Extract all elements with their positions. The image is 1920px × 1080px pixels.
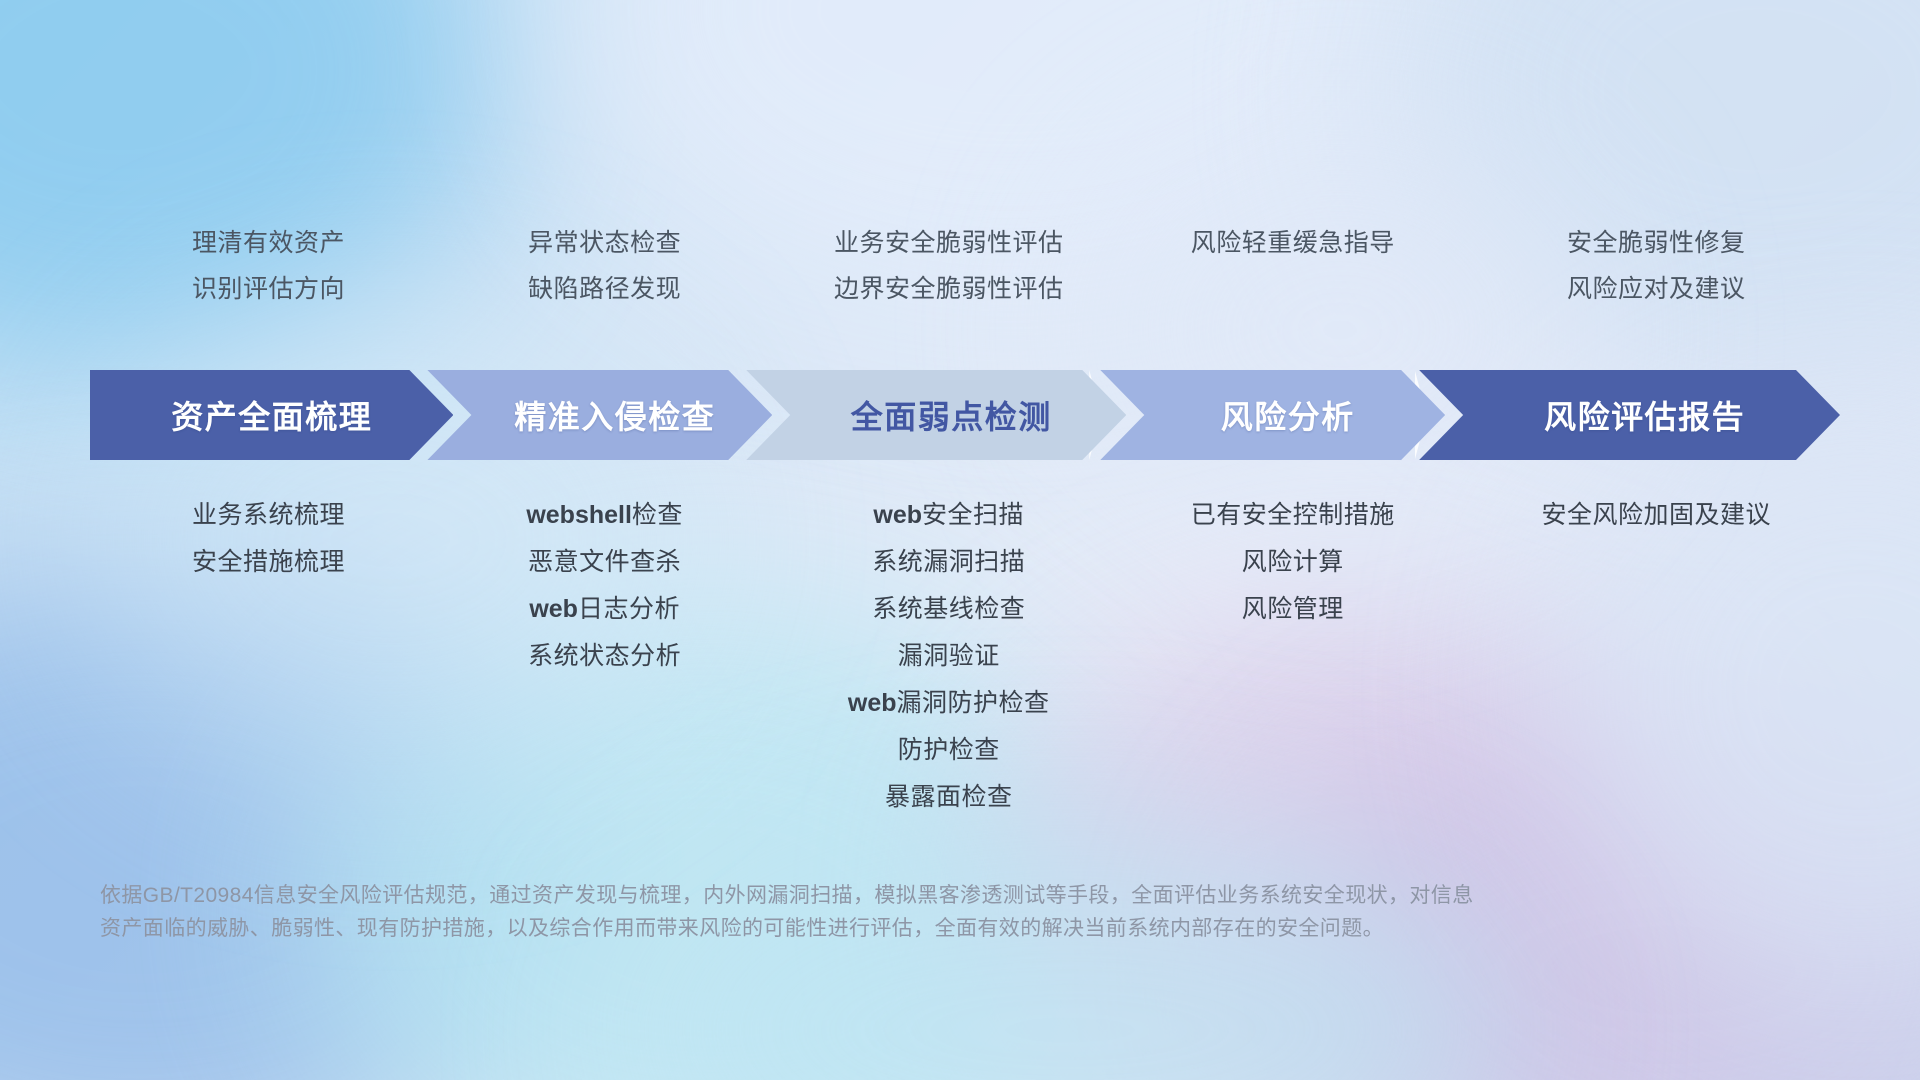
stage-chevron-label: 风险评估报告 [1419, 392, 1840, 438]
caption-text: 理清有效资产 [192, 228, 345, 258]
top-captions-row: 理清有效资产识别评估方向异常状态检查缺陷路径发现业务安全脆弱性评估边界安全脆弱性… [96, 228, 1856, 304]
list-item: 风险管理 [1242, 594, 1344, 624]
list-item: 安全风险加固及建议 [1541, 500, 1771, 530]
caption-column-risk-report: 安全脆弱性修复风险应对及建议 [1456, 228, 1856, 304]
caption-text: 缺陷路径发现 [528, 274, 681, 304]
list-item: 恶意文件查杀 [528, 547, 681, 577]
bottom-items-row: 业务系统梳理安全措施梳理webshell检查恶意文件查杀web日志分析系统状态分… [96, 500, 1856, 812]
caption-text: 业务安全脆弱性评估 [834, 228, 1064, 258]
stage-chevron-intrusion-check[interactable]: 精准入侵检查 [427, 370, 772, 460]
caption-column-intrusion-check: 异常状态检查缺陷路径发现 [441, 228, 768, 304]
items-column-weakness-detection: web安全扫描系统漏洞扫描系统基线检查漏洞验证web漏洞防护检查防护检查暴露面检… [768, 500, 1129, 812]
caption-column-risk-analysis: 风险轻重缓急指导 [1129, 228, 1456, 304]
list-item: 风险计算 [1242, 547, 1344, 577]
caption-text: 识别评估方向 [192, 274, 345, 304]
caption-text: 安全脆弱性修复 [1567, 228, 1746, 258]
footnote-line-2: 资产面临的威胁、脆弱性、现有防护措施，以及综合作用而带来风险的可能性进行评估，全… [100, 913, 1610, 946]
list-item: 系统基线检查 [872, 594, 1025, 624]
caption-column-weakness-detection: 业务安全脆弱性评估边界安全脆弱性评估 [768, 228, 1129, 304]
list-item: web漏洞防护检查 [848, 688, 1050, 718]
list-item: webshell检查 [526, 500, 683, 530]
list-item: 已有安全控制措施 [1191, 500, 1395, 530]
stage-chevron-label: 全面弱点检测 [746, 392, 1126, 438]
list-item: 防护检查 [898, 735, 1000, 765]
items-column-risk-report: 安全风险加固及建议 [1456, 500, 1856, 812]
items-column-asset-inventory: 业务系统梳理安全措施梳理 [96, 500, 441, 812]
infographic-canvas: 理清有效资产识别评估方向异常状态检查缺陷路径发现业务安全脆弱性评估边界安全脆弱性… [0, 0, 1920, 1080]
stage-chevron-label: 精准入侵检查 [427, 392, 772, 438]
footnote-line-1: 依据GB/T20984信息安全风险评估规范，通过资产发现与梳理，内外网漏洞扫描，… [100, 880, 1610, 913]
list-item: 系统状态分析 [528, 641, 681, 671]
stage-chevron-label: 资产全面梳理 [90, 392, 453, 438]
caption-text: 风险应对及建议 [1567, 274, 1746, 304]
caption-text: 边界安全脆弱性评估 [834, 274, 1064, 304]
stage-chevron-label: 风险分析 [1100, 392, 1445, 438]
items-column-intrusion-check: webshell检查恶意文件查杀web日志分析系统状态分析 [441, 500, 768, 812]
stage-chevron-risk-analysis[interactable]: 风险分析 [1100, 370, 1445, 460]
caption-text: 风险轻重缓急指导 [1191, 228, 1395, 258]
process-chevron-band: 资产全面梳理精准入侵检查全面弱点检测风险分析风险评估报告 [90, 370, 1840, 460]
list-item: 漏洞验证 [898, 641, 1000, 671]
list-item: 系统漏洞扫描 [872, 547, 1025, 577]
footnote: 依据GB/T20984信息安全风险评估规范，通过资产发现与梳理，内外网漏洞扫描，… [100, 880, 1610, 945]
items-column-risk-analysis: 已有安全控制措施风险计算风险管理 [1129, 500, 1456, 812]
caption-column-asset-inventory: 理清有效资产识别评估方向 [96, 228, 441, 304]
caption-text: 异常状态检查 [528, 228, 681, 258]
list-item: 安全措施梳理 [192, 547, 345, 577]
stage-chevron-risk-report[interactable]: 风险评估报告 [1419, 370, 1840, 460]
list-item: 暴露面检查 [885, 782, 1013, 812]
stage-chevron-weakness-detection[interactable]: 全面弱点检测 [746, 370, 1126, 460]
list-item: web日志分析 [529, 594, 680, 624]
stage-chevron-asset-inventory[interactable]: 资产全面梳理 [90, 370, 453, 460]
list-item: 业务系统梳理 [192, 500, 345, 530]
list-item: web安全扫描 [873, 500, 1024, 530]
